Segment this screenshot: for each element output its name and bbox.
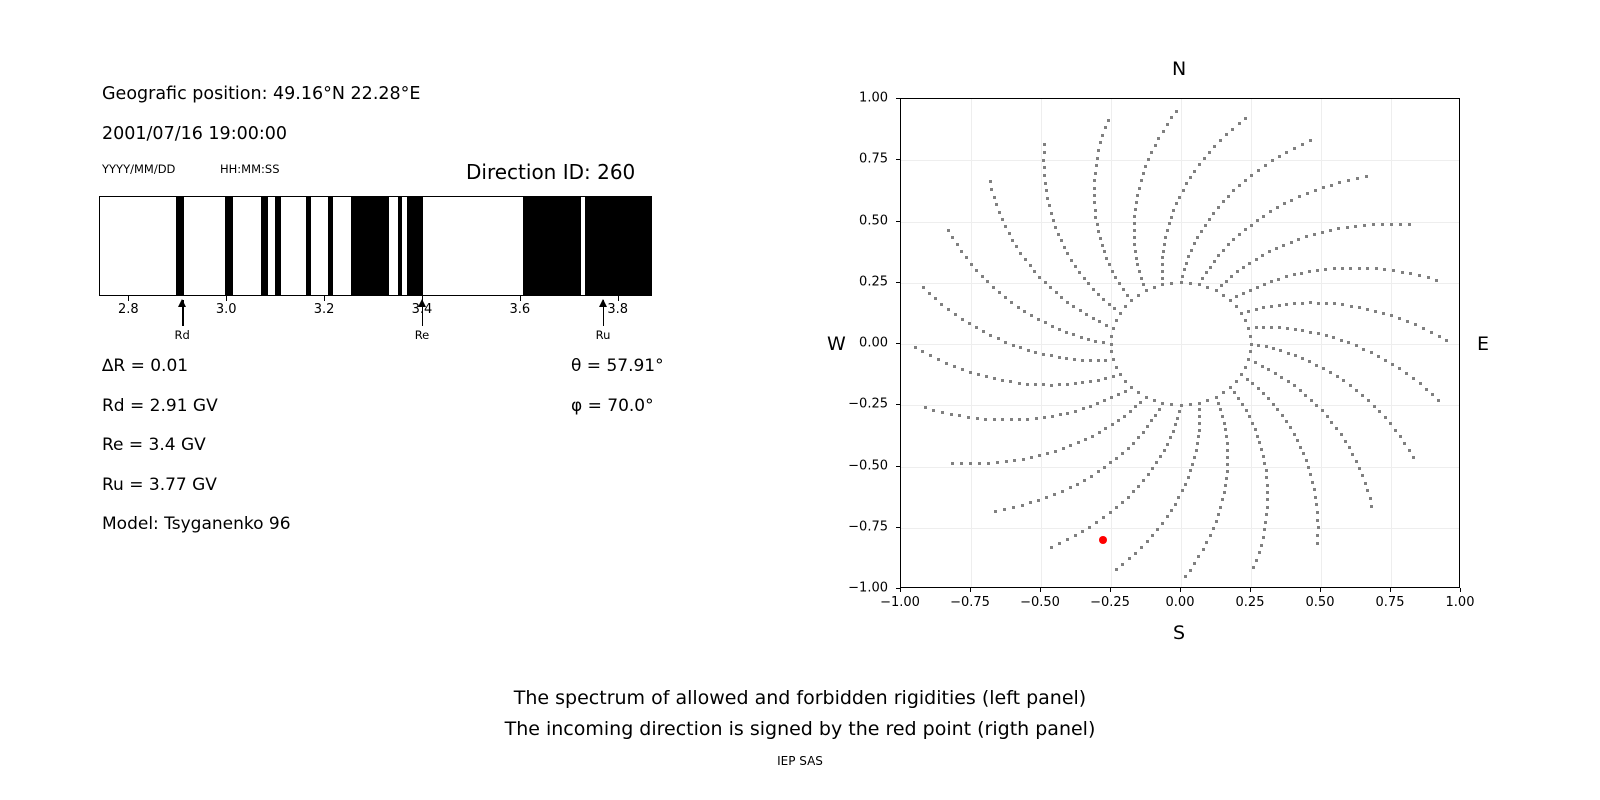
direction-dot <box>1044 321 1047 324</box>
direction-dot <box>1133 215 1136 218</box>
direction-dot <box>1099 141 1102 144</box>
direction-dot <box>1399 223 1402 226</box>
x-axis-tick-label: 0.50 <box>1306 595 1335 610</box>
direction-dot <box>1258 551 1261 554</box>
direction-dot <box>1013 459 1016 462</box>
x-axis-tick-label: 0.75 <box>1376 595 1405 610</box>
direction-dot <box>1181 489 1184 492</box>
direction-dot <box>1223 491 1226 494</box>
direction-dot <box>1114 276 1117 279</box>
direction-dot <box>1087 338 1090 341</box>
incoming-direction-point <box>1099 536 1107 544</box>
direction-dot <box>1110 350 1113 353</box>
direction-dot <box>929 354 932 357</box>
direction-dot <box>1321 231 1324 234</box>
direction-dot <box>1184 483 1187 486</box>
direction-dot <box>1029 264 1032 267</box>
direction-dot <box>1266 491 1269 494</box>
direction-dot <box>1042 383 1045 386</box>
direction-dot <box>1220 284 1223 287</box>
direction-dot <box>1250 174 1253 177</box>
direction-dot <box>1408 223 1411 226</box>
direction-dot <box>1074 410 1077 413</box>
direction-dot <box>1285 420 1288 423</box>
direction-dot <box>1034 351 1037 354</box>
direction-dot <box>1150 151 1153 154</box>
axis-tick <box>520 296 521 301</box>
direction-dot <box>1222 200 1225 203</box>
x-axis-tick <box>1040 588 1041 592</box>
direction-dot <box>1070 259 1073 262</box>
direction-dot <box>1392 269 1395 272</box>
direction-dot <box>1382 312 1385 315</box>
direction-dot <box>975 326 978 329</box>
param-phi: φ = 70.0° <box>571 396 654 416</box>
direction-dot <box>1313 233 1316 236</box>
direction-dot <box>1278 326 1281 329</box>
direction-dot <box>1256 219 1259 222</box>
direction-dot <box>1069 486 1072 489</box>
direction-dot <box>1091 435 1094 438</box>
direction-dot <box>1437 399 1440 402</box>
direction-dot <box>1245 409 1248 412</box>
direction-dot <box>1226 470 1229 473</box>
direction-dot <box>1356 177 1359 180</box>
x-axis-tick <box>1320 588 1321 592</box>
direction-dot <box>1170 116 1173 119</box>
direction-dot <box>1080 336 1083 339</box>
y-axis-tick <box>896 404 900 405</box>
direction-dot <box>1048 204 1051 207</box>
direction-dot <box>953 365 956 368</box>
direction-dot <box>914 346 917 349</box>
direction-dot <box>1005 460 1008 463</box>
direction-dot <box>993 418 996 421</box>
direction-dot <box>1398 317 1401 320</box>
direction-dot <box>1254 361 1257 364</box>
direction-dot <box>1336 375 1339 378</box>
direction-dot <box>1213 260 1216 263</box>
direction-dot <box>1425 388 1428 391</box>
direction-dot <box>1244 117 1247 120</box>
direction-dot <box>1095 164 1098 167</box>
direction-dot <box>1340 433 1343 436</box>
direction-dot <box>1058 328 1061 331</box>
direction-dot <box>1307 466 1310 469</box>
direction-dot <box>1252 566 1255 569</box>
direction-dot <box>1358 306 1361 309</box>
direction-dot <box>1354 225 1357 228</box>
direction-dot <box>1308 360 1311 363</box>
direction-dot <box>1274 372 1277 375</box>
direction-dot <box>1300 272 1303 275</box>
grid-line <box>901 467 1459 468</box>
direction-dot <box>1037 499 1040 502</box>
axis-tick <box>128 296 129 301</box>
direction-dot <box>1004 341 1007 344</box>
direction-dot <box>1166 229 1169 232</box>
direction-dot <box>1281 414 1284 417</box>
compass-south-label: S <box>1173 622 1185 644</box>
direction-dot <box>975 269 978 272</box>
datetime-label: 2001/07/16 19:00:00 <box>102 124 287 144</box>
direction-dot <box>1190 249 1193 252</box>
direction-dot <box>1272 347 1275 350</box>
direction-dot <box>1308 270 1311 273</box>
direction-dot <box>1430 331 1433 334</box>
direction-dot <box>1142 283 1145 286</box>
param-re: Re = 3.4 GV <box>102 435 206 455</box>
direction-dot <box>1111 270 1114 273</box>
direction-dot <box>1414 323 1417 326</box>
direction-dot <box>1174 503 1177 506</box>
direction-dot <box>1405 372 1408 375</box>
direction-dot <box>1301 302 1304 305</box>
direction-dot <box>1170 282 1173 285</box>
direction-dot <box>1229 299 1232 302</box>
direction-dot <box>1309 301 1312 304</box>
direction-dot <box>1108 263 1111 266</box>
direction-dot <box>1115 457 1118 460</box>
forbidden-band <box>351 197 389 295</box>
direction-dot <box>1122 288 1125 291</box>
x-axis-tick <box>900 588 901 592</box>
direction-dot <box>1185 262 1188 265</box>
direction-dot <box>1389 422 1392 425</box>
direction-dot <box>1065 357 1068 360</box>
direction-dot <box>1087 282 1090 285</box>
direction-dot <box>1018 382 1021 385</box>
direction-dot <box>1172 430 1175 433</box>
arrow-up-icon <box>599 299 607 307</box>
direction-dot <box>1198 429 1201 432</box>
direction-dot <box>986 280 989 283</box>
y-axis-tick <box>896 588 900 589</box>
x-axis-tick <box>1250 588 1251 592</box>
direction-dot <box>1438 335 1441 338</box>
direction-dot <box>1222 294 1225 297</box>
direction-dot <box>1176 417 1179 420</box>
y-axis-tick <box>896 98 900 99</box>
direction-dot <box>1374 310 1377 313</box>
x-axis-tick <box>1110 588 1111 592</box>
direction-dot <box>1140 546 1143 549</box>
direction-dot <box>1347 341 1350 344</box>
direction-dot <box>932 409 935 412</box>
direction-dot <box>1033 270 1036 273</box>
direction-dot <box>1161 522 1164 525</box>
direction-dot <box>1026 418 1029 421</box>
direction-dot <box>1267 368 1270 371</box>
direction-dot <box>1282 244 1285 247</box>
direction-dot <box>1137 436 1140 439</box>
direction-dot <box>1133 243 1136 246</box>
direction-dot <box>1133 236 1136 239</box>
direction-dot <box>1058 542 1061 545</box>
forbidden-band <box>225 197 233 295</box>
direction-dot <box>1384 359 1387 362</box>
direction-dot <box>1244 319 1247 322</box>
direction-dot <box>1235 295 1238 298</box>
direction-dot <box>1094 216 1097 219</box>
direction-dot <box>1011 239 1014 242</box>
direction-dot <box>1258 441 1261 444</box>
direction-dot <box>1097 230 1100 233</box>
direction-dot <box>1309 139 1312 142</box>
direction-dot <box>1215 289 1218 292</box>
direction-dot <box>1305 459 1308 462</box>
grid-line <box>1391 99 1392 587</box>
direction-dot <box>1121 501 1124 504</box>
direction-dot <box>1089 380 1092 383</box>
direction-dot <box>1313 488 1316 491</box>
direction-dot <box>1189 282 1192 285</box>
direction-dot <box>1316 534 1319 537</box>
direction-dot <box>1309 331 1312 334</box>
direction-dot <box>1369 497 1372 500</box>
forbidden-band <box>176 197 184 295</box>
direction-dot <box>1333 267 1336 270</box>
direction-dot <box>1142 479 1145 482</box>
direction-dot <box>1029 501 1032 504</box>
direction-dot <box>1063 246 1066 249</box>
marker-label: Rd <box>175 328 190 342</box>
direction-dot <box>1127 496 1130 499</box>
direction-dot <box>1189 569 1192 572</box>
forbidden-band <box>585 197 652 295</box>
direction-dot <box>1394 429 1397 432</box>
direction-dot <box>1074 534 1077 537</box>
direction-dot <box>1112 358 1115 361</box>
direction-dot <box>1092 288 1095 291</box>
direction-dot <box>1278 155 1281 158</box>
direction-dot <box>995 203 998 206</box>
direction-dot <box>1294 354 1297 357</box>
direction-dot <box>1275 247 1278 250</box>
direction-dot <box>951 236 954 239</box>
direction-dot <box>1370 351 1373 354</box>
direction-dot <box>1093 201 1096 204</box>
direction-dot <box>1175 110 1178 113</box>
footer-label: IEP SAS <box>0 754 1600 768</box>
marker-label: Ru <box>596 328 611 342</box>
direction-dot <box>1010 418 1013 421</box>
direction-dot <box>1043 151 1046 154</box>
direction-dot <box>1198 408 1201 411</box>
direction-dot <box>1298 195 1301 198</box>
geographic-position-label: Geografic position: 49.16°N 22.28°E <box>102 84 420 104</box>
direction-dot <box>1169 436 1172 439</box>
direction-dot <box>1276 206 1279 209</box>
direction-dot <box>1136 194 1139 197</box>
direction-dot <box>1270 305 1273 308</box>
forbidden-band <box>275 197 281 295</box>
direction-dot <box>1241 403 1244 406</box>
direction-dot <box>1367 399 1370 402</box>
direction-dot <box>1332 336 1335 339</box>
direction-dot <box>1130 386 1133 389</box>
direction-dot <box>1081 381 1084 384</box>
direction-dot <box>1073 358 1076 361</box>
direction-dot <box>1335 427 1338 430</box>
direction-dot <box>1172 209 1175 212</box>
direction-dot <box>1249 350 1252 353</box>
direction-dot <box>1403 442 1406 445</box>
direction-dot <box>1145 289 1148 292</box>
direction-dot <box>1062 447 1065 450</box>
direction-dot <box>1163 243 1166 246</box>
direction-dot <box>1097 293 1100 296</box>
direction-dot <box>1197 555 1200 558</box>
direction-dot <box>1305 235 1308 238</box>
direction-dot <box>970 263 973 266</box>
direction-dot <box>1051 325 1054 328</box>
direction-dot <box>1111 423 1114 426</box>
direction-dot <box>1264 521 1267 524</box>
y-axis-tick-label: 0.50 <box>838 213 888 228</box>
direction-dot <box>1097 379 1100 382</box>
direction-dot <box>1285 275 1288 278</box>
direction-dot <box>1238 233 1241 236</box>
direction-dot <box>1060 239 1063 242</box>
direction-dot <box>1072 333 1075 336</box>
direction-dot <box>1362 348 1365 351</box>
direction-dot <box>1044 182 1047 185</box>
direction-dot <box>1330 184 1333 187</box>
direction-dot <box>1124 390 1127 393</box>
direction-dot <box>967 416 970 419</box>
direction-dot <box>1095 521 1098 524</box>
caption-line-2: The incoming direction is signed by the … <box>0 718 1600 740</box>
direction-dot <box>1208 151 1211 154</box>
direction-dot <box>1364 482 1367 485</box>
direction-dot <box>1168 222 1171 225</box>
direction-dot <box>1326 415 1329 418</box>
direction-dot <box>1209 266 1212 269</box>
direction-dot <box>1224 428 1227 431</box>
arrow-up-icon <box>178 299 186 307</box>
direction-dot <box>1383 268 1386 271</box>
direction-dot <box>1249 289 1252 292</box>
direction-dot <box>1109 511 1112 514</box>
x-axis-tick-label: −0.50 <box>1020 595 1060 610</box>
forbidden-band <box>407 197 423 295</box>
direction-dot <box>1267 397 1270 400</box>
direction-dot <box>1226 463 1229 466</box>
direction-dot <box>1244 179 1247 182</box>
direction-dot <box>1378 410 1381 413</box>
direction-dot <box>1066 383 1069 386</box>
direction-dot <box>937 358 940 361</box>
direction-dot <box>990 188 993 191</box>
direction-dot <box>1314 496 1317 499</box>
y-axis-tick-label: −0.75 <box>838 519 888 534</box>
direction-dot <box>1089 359 1092 362</box>
direction-dot <box>1004 225 1007 228</box>
direction-dot <box>1057 233 1060 236</box>
direction-dot <box>1189 403 1192 406</box>
axis-tick <box>618 296 619 301</box>
direction-dot <box>1191 463 1194 466</box>
direction-dot <box>1061 490 1064 493</box>
direction-dot <box>1076 483 1079 486</box>
direction-dot <box>1299 446 1302 449</box>
direction-dot <box>1082 407 1085 410</box>
direction-dot <box>1147 158 1150 161</box>
direction-dot <box>1187 255 1190 258</box>
direction-dot <box>1248 262 1251 265</box>
direction-dot <box>1170 216 1173 219</box>
direction-dot <box>1193 170 1196 173</box>
direction-dot <box>1293 147 1296 150</box>
x-axis-tick <box>1460 588 1461 592</box>
direction-dot <box>1023 310 1026 313</box>
direction-dot <box>1263 462 1266 465</box>
direction-dot <box>1065 331 1068 334</box>
direction-dot <box>1058 356 1061 359</box>
direction-dot <box>1221 415 1224 418</box>
direction-dot <box>1287 380 1290 383</box>
direction-dot <box>1113 307 1116 310</box>
direction-dot <box>1205 271 1208 274</box>
direction-dot <box>1077 441 1080 444</box>
direction-dot <box>1037 318 1040 321</box>
direction-dot <box>1074 265 1077 268</box>
direction-dot <box>1134 250 1137 253</box>
direction-dot <box>1366 489 1369 492</box>
direction-dot <box>1096 402 1099 405</box>
direction-dot <box>1293 273 1296 276</box>
direction-dot <box>1217 402 1220 405</box>
direction-dot <box>1161 283 1164 286</box>
direction-dot <box>1119 373 1122 376</box>
direction-dot <box>1156 528 1159 531</box>
direction-dot <box>1193 456 1196 459</box>
direction-dot <box>1089 405 1092 408</box>
direction-dot <box>1204 224 1207 227</box>
direction-dot <box>1196 442 1199 445</box>
direction-dot <box>1105 257 1108 260</box>
direction-dot <box>1066 412 1069 415</box>
direction-dot <box>1012 506 1015 509</box>
direction-dot <box>989 180 992 183</box>
direction-dot <box>1012 344 1015 347</box>
direction-dot <box>1101 244 1104 247</box>
direction-dot <box>1206 286 1209 289</box>
direction-dot <box>1278 304 1281 307</box>
direction-dot <box>1344 440 1347 443</box>
direction-dot <box>1350 305 1353 308</box>
direction-dot <box>1390 223 1393 226</box>
direction-dot <box>961 318 964 321</box>
direction-dot <box>1302 452 1305 455</box>
direction-dot <box>976 417 979 420</box>
direction-dot <box>1230 275 1233 278</box>
direction-dot <box>978 462 981 465</box>
marker-label: Re <box>415 328 430 342</box>
direction-dot <box>1008 232 1011 235</box>
direction-dot <box>1270 280 1273 283</box>
direction-dot <box>1154 414 1157 417</box>
direction-dot <box>1126 294 1129 297</box>
direction-dot <box>1217 513 1220 516</box>
direction-dot <box>1247 327 1250 330</box>
direction-dot <box>1108 303 1111 306</box>
direction-dot <box>958 414 961 417</box>
grid-line <box>1321 99 1322 587</box>
direction-dot <box>1212 527 1215 530</box>
forbidden-band <box>398 197 403 295</box>
